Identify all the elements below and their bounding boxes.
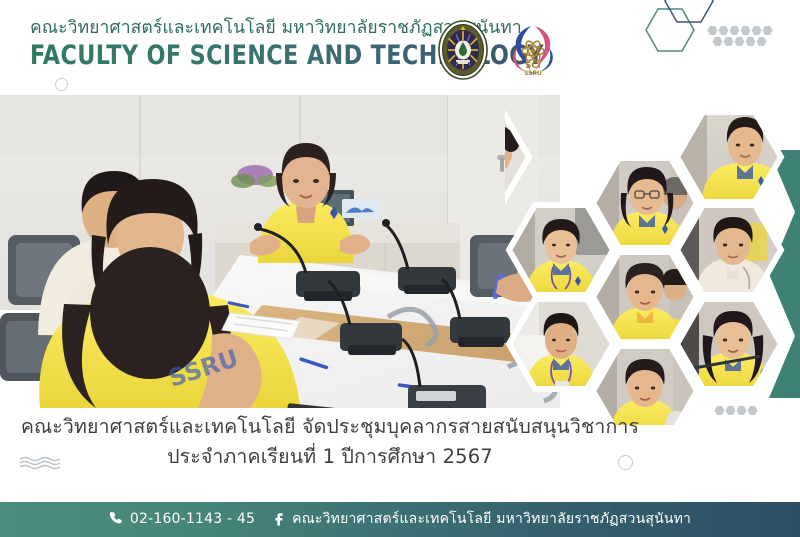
circle-outline-icon bbox=[618, 455, 633, 470]
phone-icon bbox=[109, 511, 124, 526]
caption-line-2: ประจำภาคเรียนที่ 1 ปีการศึกษา 2567 bbox=[0, 442, 660, 472]
footer-facebook-name: คณะวิทยาศาสตร์และเทคโนโลยี มหาวิทยาลัยรา… bbox=[292, 508, 691, 530]
caption-line-1: คณะวิทยาศาสตร์และเทคโนโลยี จัดประชุมบุคล… bbox=[0, 412, 660, 442]
facebook-icon bbox=[271, 511, 286, 526]
header: คณะวิทยาศาสตร์และเทคโนโลยี มหาวิทยาลัยรา… bbox=[0, 0, 800, 95]
meeting-room-photo: SSRU bbox=[0, 95, 560, 408]
sci-ssru-faculty-logo-icon: SCI SSRU bbox=[505, 24, 561, 78]
hexagon-dot-grid-icon bbox=[705, 24, 787, 50]
caption-block: คณะวิทยาศาสตร์และเทคโนโลยี จัดประชุมบุคล… bbox=[0, 412, 660, 472]
footer-contact-bar: 02-160-1143 - 45 คณะวิทยาศาสตร์และเทคโนโ… bbox=[0, 500, 800, 537]
footer-facebook[interactable]: คณะวิทยาศาสตร์และเทคโนโลยี มหาวิทยาลัยรา… bbox=[271, 508, 691, 530]
wave-lines-icon bbox=[18, 455, 66, 471]
hexagon-photo-collage bbox=[505, 95, 800, 425]
hexagon-dot-cluster-icon bbox=[714, 404, 766, 420]
footer-phone[interactable]: 02-160-1143 - 45 bbox=[109, 511, 255, 527]
circle-outline-icon bbox=[55, 78, 68, 91]
footer-phone-number: 02-160-1143 - 45 bbox=[130, 511, 255, 527]
svg-text:SSRU: SSRU bbox=[524, 70, 542, 77]
poster-root: คณะวิทยาศาสตร์และเทคโนโลยี มหาวิทยาลัยรา… bbox=[0, 0, 800, 537]
ssru-university-seal-icon bbox=[437, 20, 489, 80]
